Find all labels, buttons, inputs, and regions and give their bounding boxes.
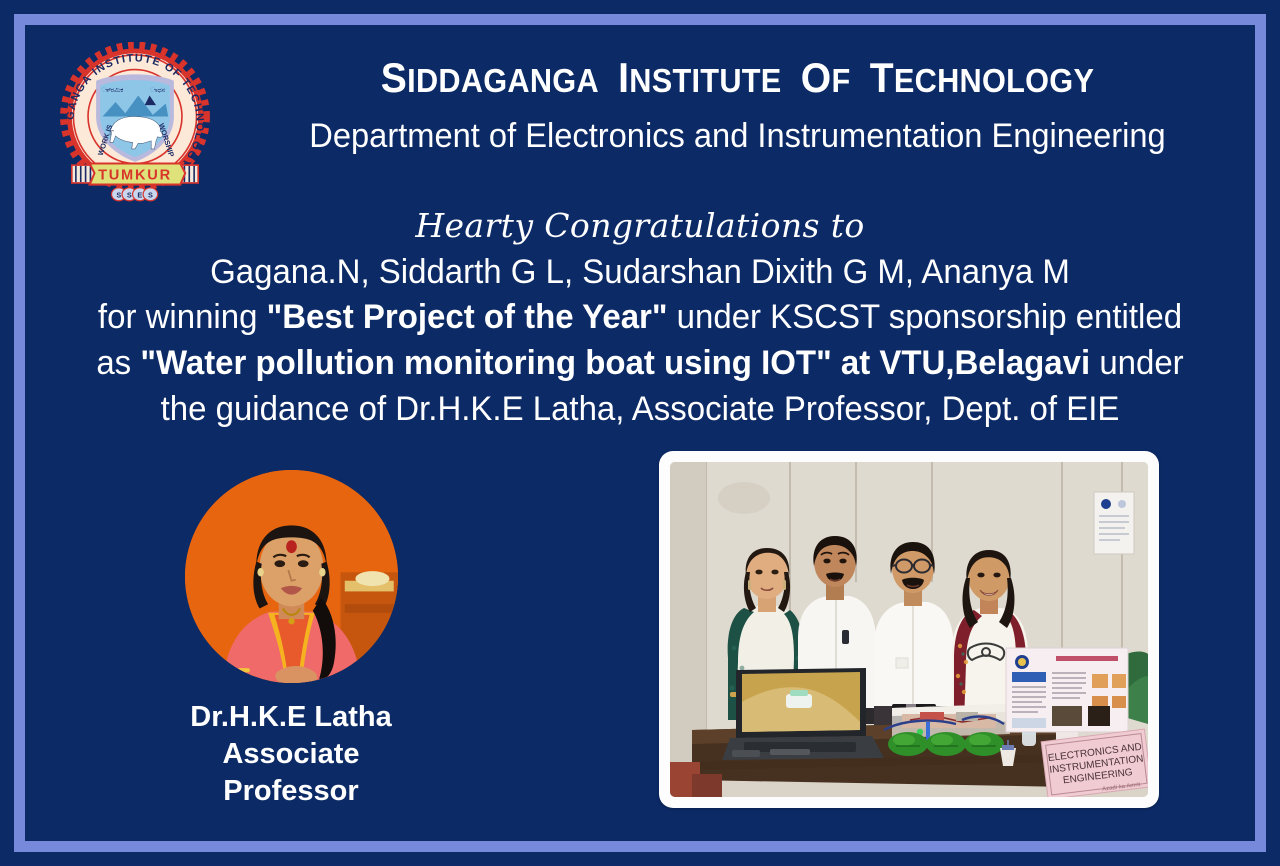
institute-name-cap: S — [381, 54, 407, 101]
awardee-names: Gagana.N, Siddarth G L, Sudarshan Dixith… — [43, 250, 1236, 295]
svg-text:TUMKUR: TUMKUR — [98, 168, 172, 184]
salutation-text: Hearty Congratulations to — [25, 205, 1255, 246]
institute-name-cap: T — [870, 54, 894, 101]
svg-text:S: S — [116, 191, 121, 200]
guide-role: Associate Professor — [180, 736, 402, 810]
citation-line: the guidance of Dr.H.K.E Latha, Associat… — [43, 387, 1236, 433]
poster-content: SIDDAGANGA INSTITUTE OF TECHNOLOGY ಾ್ರಮಿ… — [25, 25, 1255, 841]
institute-name-small: IDDAGANGA — [407, 62, 599, 99]
citation-line: as "Water pollution monitoring boat usin… — [43, 341, 1236, 387]
citation-run: under KSCST sponsorship entitled — [668, 298, 1183, 336]
svg-text:ಾ್ರಮಿಕ: ಾ್ರಮಿಕ — [101, 86, 123, 94]
guide-block: Dr.H.K.E Latha Associate Professor — [180, 470, 402, 810]
institute-name: SIDDAGANGA INSTITUTE OF TECHNOLOGY — [256, 57, 1219, 99]
group-photo: ELECTRONICS AND INSTRUMENTATION ENGINEER… — [670, 462, 1148, 797]
citation-emphasis: "Best Project of the Year" — [267, 298, 668, 336]
citation-run: under — [1090, 344, 1184, 382]
institute-name-small: ECHNOLOGY — [894, 62, 1094, 99]
guide-name: Dr.H.K.E Latha — [180, 699, 402, 736]
guide-portrait-photo — [185, 470, 398, 683]
poster-header: SIDDAGANGA INSTITUTE OF TECHNOLOGY ಾ್ರಮಿ… — [25, 25, 1255, 175]
department-name: Department of Electronics and Instrument… — [241, 117, 1235, 156]
svg-text:E: E — [137, 191, 142, 200]
citation-emphasis: "Water pollution monitoring boat using I… — [140, 344, 1090, 382]
citation-line: for winning "Best Project of the Year" u… — [43, 295, 1236, 341]
citation-run: the guidance of Dr.H.K.E Latha, Associat… — [161, 390, 1120, 428]
institute-logo-icon: SIDDAGANGA INSTITUTE OF TECHNOLOGY ಾ್ರಮಿ… — [54, 42, 216, 204]
group-photo-frame: ELECTRONICS AND INSTRUMENTATION ENGINEER… — [659, 451, 1159, 808]
institute-name-small: F — [831, 62, 850, 99]
citation-run: for winning — [98, 298, 267, 336]
congratulations-poster: SIDDAGANGA INSTITUTE OF TECHNOLOGY ಾ್ರಮಿ… — [0, 0, 1280, 866]
media-row: Dr.H.K.E Latha Associate Professor — [25, 445, 1255, 841]
svg-text:ಾಧನ: ಾಧನ — [150, 86, 166, 94]
citation-text: for winning "Best Project of the Year" u… — [43, 295, 1236, 433]
svg-text:S: S — [127, 191, 132, 200]
svg-text:S: S — [148, 191, 153, 200]
institute-name-cap: O — [801, 54, 832, 101]
citation-block: Hearty Congratulations to Gagana.N, Sidd… — [25, 205, 1255, 433]
citation-run: as — [96, 344, 140, 382]
institute-name-cap: I — [618, 54, 629, 101]
institute-name-small: NSTITUTE — [629, 62, 781, 99]
